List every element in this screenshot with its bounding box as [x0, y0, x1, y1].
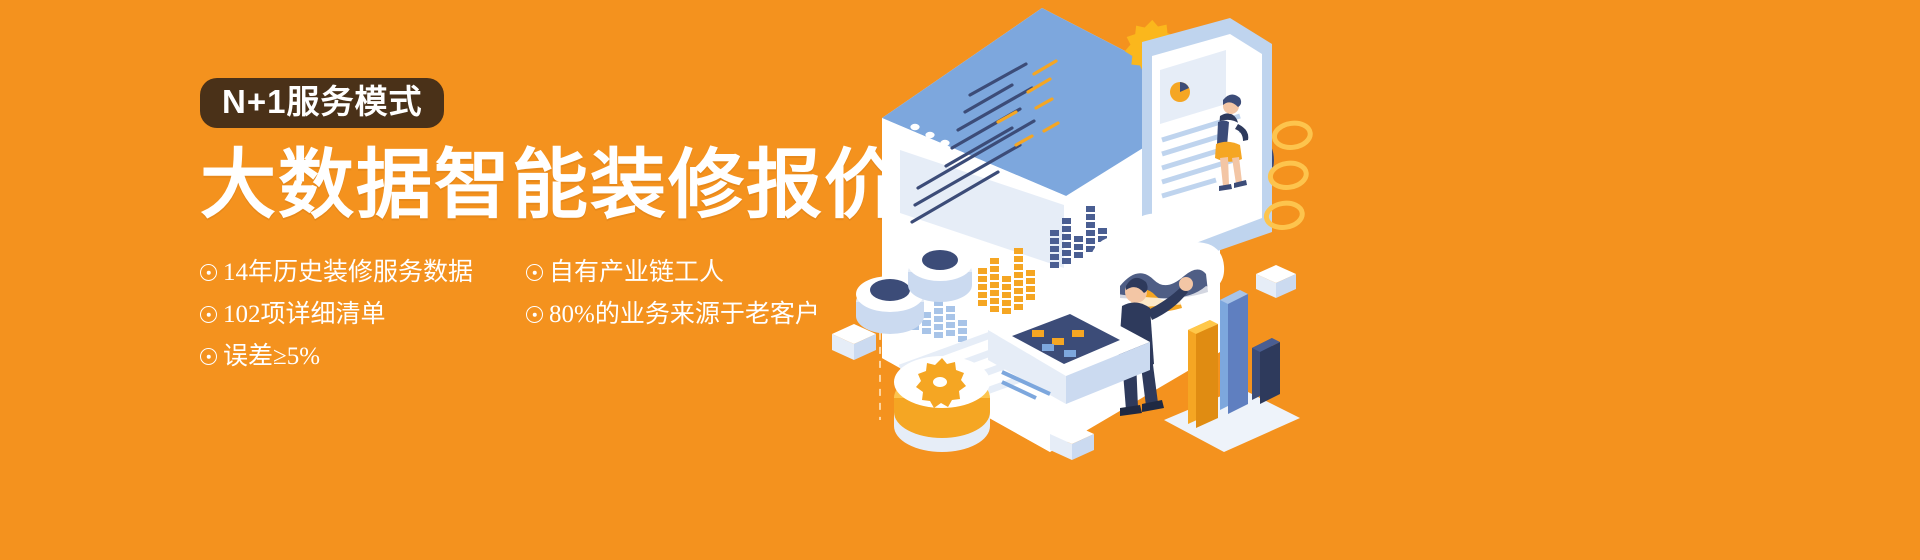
list-item-label: 80%的业务来源于老客户 [549, 302, 820, 327]
list-item: 误差≥5% [200, 336, 518, 378]
service-model-badge: N+1服务模式 [200, 78, 444, 128]
yellow-gear-disc [894, 356, 990, 452]
list-item: 102项详细清单 [200, 294, 518, 336]
list-item-label: 102项详细清单 [223, 302, 386, 327]
isometric-illustration [820, 0, 1380, 560]
list-item-label: 14年历史装修服务数据 [223, 260, 473, 285]
list-item-label: 误差≥5% [223, 344, 320, 369]
circled-dot-icon [200, 306, 217, 323]
circled-dot-icon [526, 306, 543, 323]
list-item: 14年历史装修服务数据 [200, 252, 518, 294]
circled-dot-icon [200, 264, 217, 281]
circled-dot-icon [526, 264, 543, 281]
list-item-label: 自有产业链工人 [549, 260, 724, 285]
circled-dot-icon [200, 348, 217, 365]
promo-banner: N+1服务模式 大数据智能装修报价 14年历史装修服务数据 102项详细清单 误… [0, 0, 1920, 560]
